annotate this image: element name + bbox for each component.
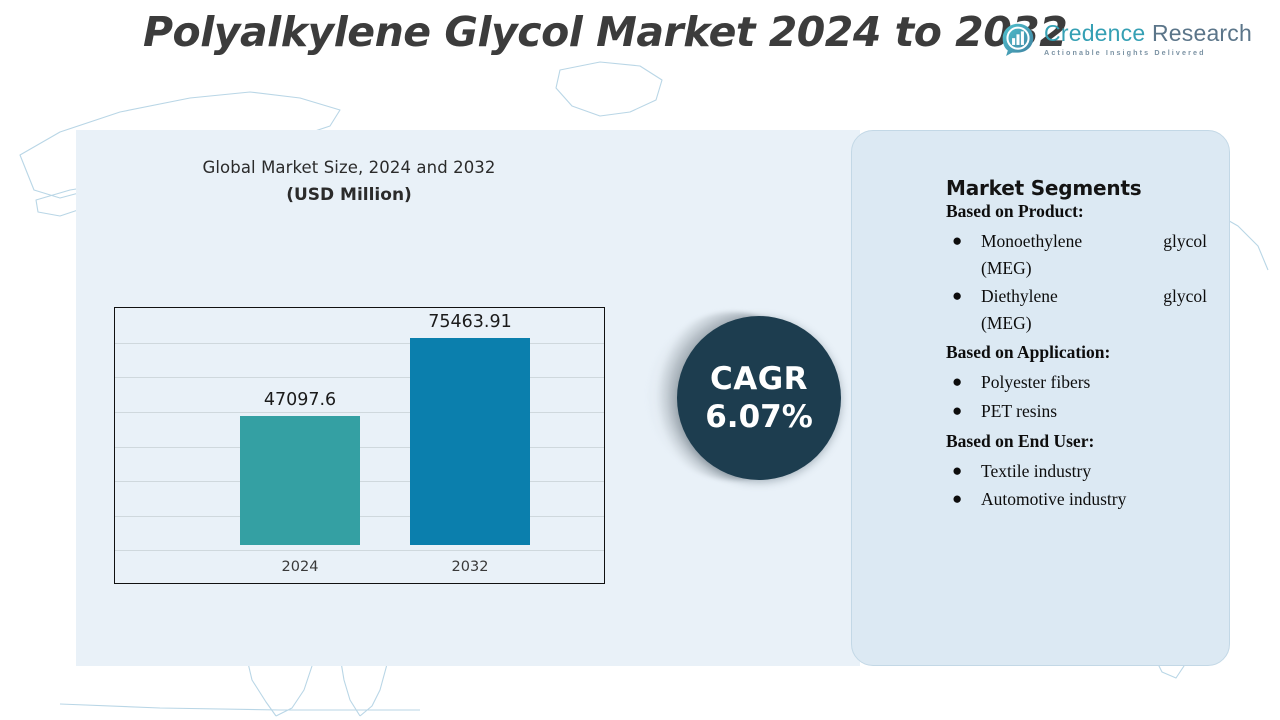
segment-item[interactable]: ●Diethylene glycol(MEG) [946, 283, 1207, 336]
segment-heading: Based on Application: [946, 342, 1207, 363]
cagr-label: CAGR [710, 361, 808, 397]
bar-2032: 75463.91 [410, 306, 530, 545]
bar-value-label: 47097.6 [264, 390, 336, 410]
segment-list: ●Polyester fibers●PET resins [946, 369, 1207, 424]
segment-item[interactable]: ●Monoethylene glycol(MEG) [946, 228, 1207, 281]
segment-item-label-continued: (MEG) [981, 255, 1207, 282]
segment-item[interactable]: ●Polyester fibers [946, 369, 1207, 396]
segment-item-label: Monoethylene glycol [981, 228, 1207, 255]
gridline [115, 550, 604, 551]
cagr-circle: CAGR 6.07% [677, 316, 841, 480]
bullet-icon: ● [952, 486, 962, 512]
market-segments-panel: Market Segments Based on Product:●Monoet… [851, 130, 1230, 666]
chart-plot-area: 47097.675463.91 [115, 308, 604, 545]
bullet-icon: ● [952, 369, 962, 395]
segments-title: Market Segments [946, 177, 1207, 200]
bullet-icon: ● [952, 398, 962, 424]
segment-item-label: Diethylene glycol [981, 283, 1207, 310]
header: Polyalkylene Glycol Market 2024 to 2032 … [0, 0, 1280, 75]
chart-heading: Global Market Size, 2024 and 2032 (USD M… [76, 158, 622, 205]
bar-rect [240, 416, 360, 545]
bar-chart-speech-bubble-icon [1001, 22, 1035, 56]
segment-item-label: PET resins [981, 401, 1057, 421]
bar-2024: 47097.6 [240, 306, 360, 545]
brand-name: Credence Research [1044, 22, 1252, 45]
bullet-icon: ● [952, 283, 962, 309]
segments-groups: Based on Product:●Monoethylene glycol(ME… [946, 201, 1207, 513]
segment-item-label-continued: (MEG) [981, 310, 1207, 337]
segment-heading: Based on End User: [946, 431, 1207, 452]
chart-heading-line2: (USD Million) [76, 185, 622, 205]
brand-name-second: Research [1152, 20, 1252, 46]
brand-name-first: Credence [1044, 20, 1145, 46]
x-axis-label-2024: 2024 [240, 559, 360, 575]
segment-item[interactable]: ●Automotive industry [946, 486, 1207, 513]
cagr-badge: CAGR 6.07% [648, 312, 858, 484]
bar-chart: 47097.675463.91 20242032 [114, 307, 605, 584]
segment-item-label: Automotive industry [981, 489, 1126, 509]
page-title: Polyalkylene Glycol Market 2024 to 2032 [143, 8, 1067, 56]
brand-tagline: Actionable Insights Delivered [1044, 49, 1252, 56]
segment-item-label: Textile industry [981, 461, 1091, 481]
segment-item-label: Polyester fibers [981, 372, 1090, 392]
cagr-value: 6.07% [705, 399, 813, 435]
brand-logo: Credence Research Actionable Insights De… [1001, 22, 1252, 56]
segment-list: ●Textile industry●Automotive industry [946, 458, 1207, 513]
segment-item[interactable]: ●PET resins [946, 398, 1207, 425]
bar-value-label: 75463.91 [428, 312, 512, 332]
segment-heading: Based on Product: [946, 201, 1207, 222]
brand-text: Credence Research Actionable Insights De… [1044, 22, 1252, 56]
x-axis-label-2032: 2032 [410, 559, 530, 575]
segment-list: ●Monoethylene glycol(MEG)●Diethylene gly… [946, 228, 1207, 336]
chart-heading-line1: Global Market Size, 2024 and 2032 [76, 158, 622, 177]
bar-rect [410, 338, 530, 545]
segment-item[interactable]: ●Textile industry [946, 458, 1207, 485]
bullet-icon: ● [952, 228, 962, 254]
bullet-icon: ● [952, 458, 962, 484]
